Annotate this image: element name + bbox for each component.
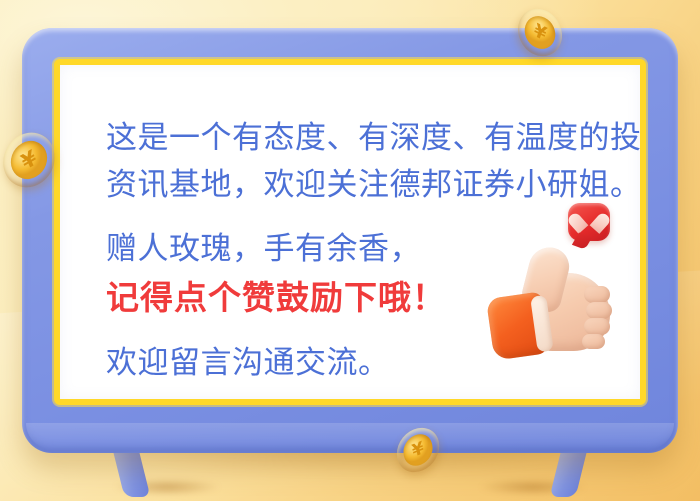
coin-left-symbol: ¥ xyxy=(5,134,53,186)
hand-knuckle-3 xyxy=(584,318,610,335)
hand-knuckle-2 xyxy=(586,302,612,319)
heart-icon xyxy=(577,211,601,233)
leg-shadow-right xyxy=(458,479,608,499)
television: 这是一个有态度、有深度、有温度的投研 资讯基地，欢迎关注德邦证券小研姐。 赠人玫… xyxy=(22,28,678,453)
leg-shadow-left xyxy=(92,479,242,499)
promo-banner: 这是一个有态度、有深度、有温度的投研 资讯基地，欢迎关注德邦证券小研姐。 赠人玫… xyxy=(0,0,700,501)
coin-bottom-symbol: ¥ xyxy=(400,430,435,470)
television-screen: 这是一个有态度、有深度、有温度的投研 资讯基地，欢迎关注德邦证券小研姐。 赠人玫… xyxy=(54,59,646,405)
thumbs-up-icon xyxy=(490,243,614,359)
message-line-2: 资讯基地，欢迎关注德邦证券小研姐。 xyxy=(106,162,616,209)
heart-speech-bubble-icon xyxy=(568,203,610,241)
coin-top-right-symbol: ¥ xyxy=(521,10,560,54)
hand-knuckle-1 xyxy=(584,286,610,303)
sleeve-cuff xyxy=(486,291,550,360)
thumbs-up-illustration xyxy=(484,203,616,363)
hand-knuckle-4 xyxy=(582,334,605,349)
message-line-1: 这是一个有态度、有深度、有温度的投研 xyxy=(106,115,616,162)
